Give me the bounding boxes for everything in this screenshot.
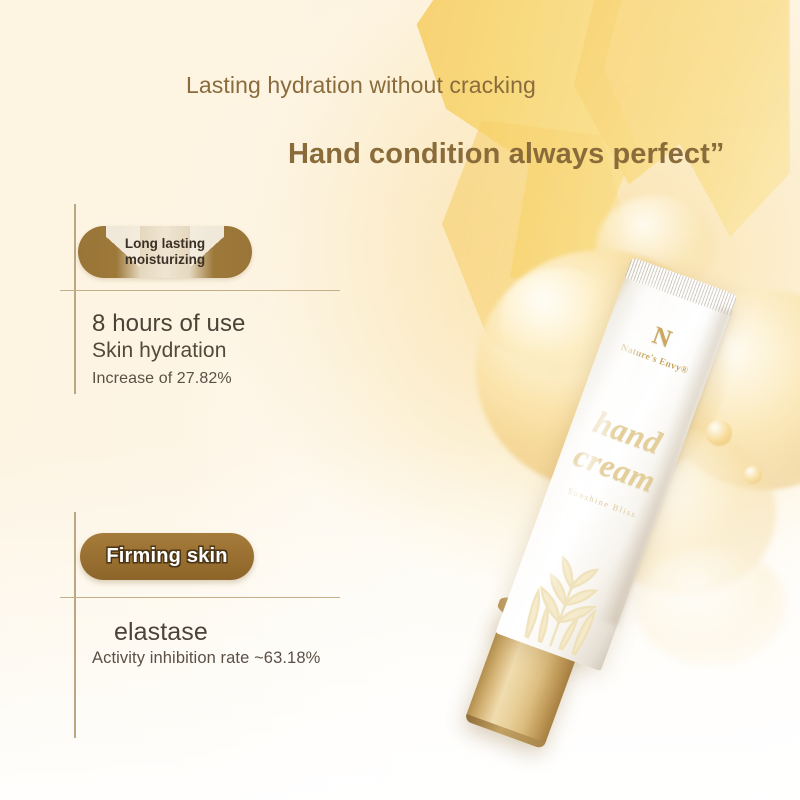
stat-block-hydration: 8 hours of use Skin hydration Increase o… bbox=[92, 310, 246, 388]
badge-long-lasting-moisturizing: Long lasting moisturizing bbox=[78, 226, 252, 278]
stat-primary: elastase bbox=[114, 618, 320, 647]
product-marketing-banner: N Nature's Envy® hand cream Sunshine Bli… bbox=[0, 0, 800, 800]
badge-label: Firming skin bbox=[106, 545, 227, 568]
stat-detail: Increase of 27.82% bbox=[92, 370, 246, 388]
feature-divider-vertical bbox=[74, 512, 76, 738]
badge-label-group: Long lasting moisturizing bbox=[78, 226, 252, 278]
feature-divider-horizontal bbox=[60, 597, 340, 598]
product-tube: N Nature's Envy® hand cream Sunshine Bli… bbox=[418, 252, 658, 752]
badge-firming-skin: Firming skin bbox=[80, 533, 254, 580]
stat-block-elastase: elastase Activity inhibition rate ~63.18… bbox=[92, 618, 320, 668]
stat-secondary: Skin hydration bbox=[92, 339, 246, 363]
cap-bottom-edge bbox=[464, 714, 545, 749]
badge-label-line1: Long lasting bbox=[125, 236, 205, 252]
feature-divider-vertical bbox=[74, 204, 76, 394]
badge-label-line2: moisturizing bbox=[125, 252, 205, 268]
stat-detail: Activity inhibition rate ~63.18% bbox=[92, 649, 320, 668]
stat-primary: 8 hours of use bbox=[92, 310, 246, 338]
feature-divider-horizontal bbox=[60, 290, 340, 291]
page-title: Hand condition always perfect” bbox=[288, 138, 724, 171]
headline-subtitle: Lasting hydration without cracking bbox=[186, 72, 536, 99]
